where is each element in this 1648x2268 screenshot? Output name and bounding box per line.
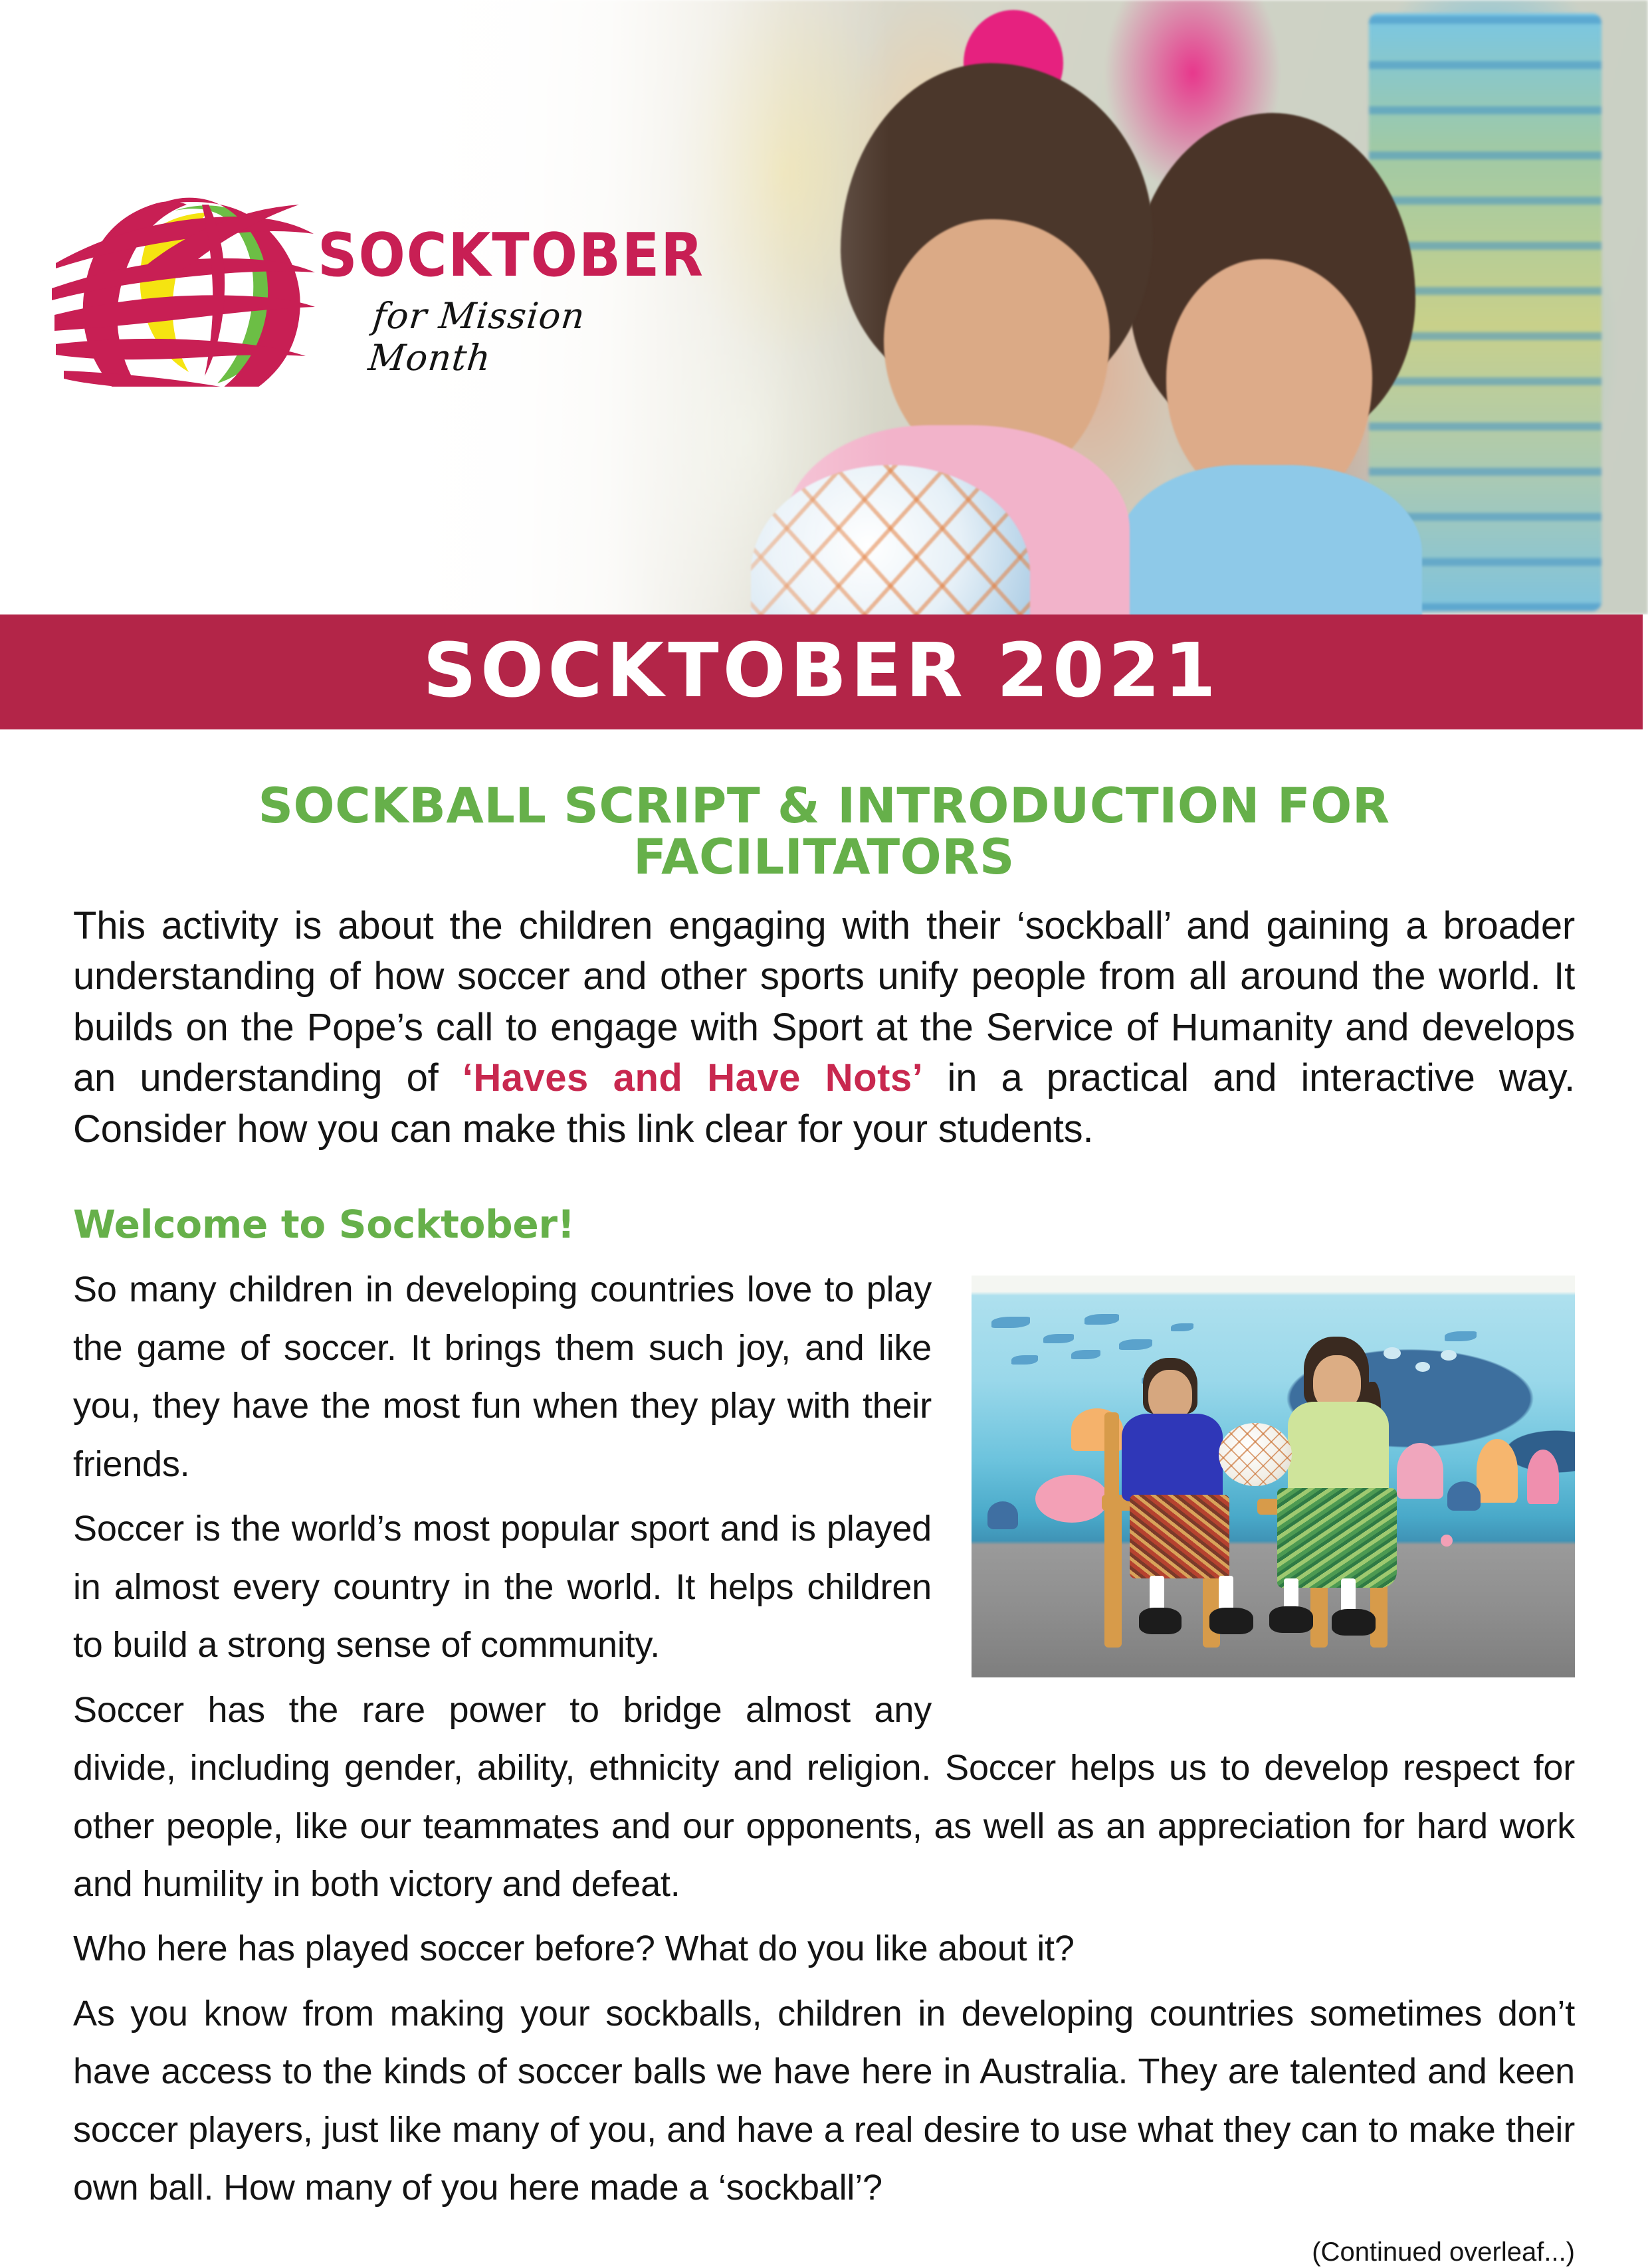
mural-coral-icon	[1035, 1475, 1108, 1523]
child-left-shoe	[1209, 1608, 1253, 1634]
socktober-logo: SOCKTOBER for Mission Month	[52, 147, 716, 387]
welcome-paragraph-5: As you know from making your sockballs, …	[73, 1985, 1575, 2218]
mural-seaweed-icon	[1447, 1481, 1481, 1511]
logo-tagline: for Mission Month	[366, 295, 720, 379]
socktober-globe-icon	[52, 147, 318, 387]
wrapped-text-block: So many children in developing countries…	[73, 1261, 1575, 2218]
mural-coral-icon	[1477, 1439, 1518, 1503]
continued-overleaf-note: (Continued overleaf...)	[73, 2236, 1575, 2268]
inline-sockball	[1219, 1423, 1292, 1486]
logo-wordmark: SOCKTOBER	[318, 226, 704, 286]
child-right-shoe	[1332, 1609, 1376, 1636]
child-left-shoe	[1139, 1608, 1182, 1634]
child-left-trousers	[1130, 1495, 1229, 1578]
document-body: SOCKBALL SCRIPT & INTRODUCTION FOR FACIL…	[73, 781, 1575, 2268]
intro-paragraph: This activity is about the children enga…	[73, 901, 1575, 1155]
child-right-top	[1288, 1402, 1389, 1495]
title-banner: SOCKTOBER 2021	[0, 614, 1643, 729]
hero-banner: SOCKTOBER for Mission Month	[0, 0, 1648, 614]
page-title: SOCKBALL SCRIPT & INTRODUCTION FOR FACIL…	[73, 781, 1575, 884]
chair-leg	[1104, 1495, 1122, 1648]
intro-keyword-haves-have-nots: ‘Haves and Have Nots’	[463, 1056, 924, 1099]
welcome-paragraph-4: Who here has played soccer before? What …	[73, 1920, 1575, 1978]
welcome-heading: Welcome to Socktober!	[73, 1204, 1575, 1246]
mural-coral-icon	[1397, 1443, 1443, 1499]
inline-photograph	[972, 1276, 1575, 1677]
welcome-paragraph-3: Soccer has the rare power to bridge almo…	[73, 1681, 1575, 1914]
mural-coral-icon	[1527, 1450, 1559, 1504]
child-left-shirt	[1122, 1414, 1223, 1501]
banner-title-text: SOCKTOBER 2021	[0, 633, 1643, 708]
child-right-shoe	[1269, 1606, 1313, 1633]
child-left-face	[1148, 1370, 1192, 1420]
chair-back	[1104, 1412, 1119, 1499]
child-right-skirt	[1277, 1488, 1397, 1588]
mural-seaweed-icon	[987, 1501, 1018, 1529]
